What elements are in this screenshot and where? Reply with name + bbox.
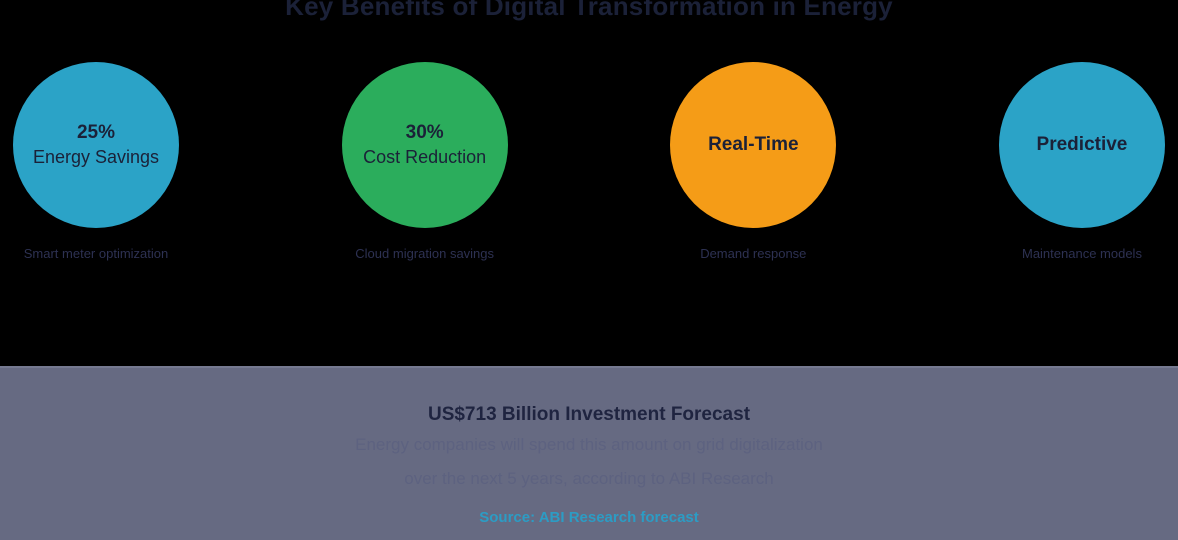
benefit-item: Real-Time Demand response: [606, 62, 900, 302]
benefit-item: 25% Energy Savings Smart meter optimizat…: [0, 62, 243, 302]
page-title: Key Benefits of Digital Transformation i…: [0, 0, 1178, 26]
infographic-canvas: Key Benefits of Digital Transformation i…: [0, 0, 1178, 540]
benefit-caption: Cloud migration savings: [355, 246, 494, 261]
benefit-value: Real-Time: [708, 133, 798, 157]
benefit-caption: Smart meter optimization: [24, 246, 169, 261]
benefit-caption: Demand response: [700, 246, 806, 261]
forecast-source: Source: ABI Research forecast: [0, 507, 1178, 529]
benefit-bubble-real-time[interactable]: Real-Time: [670, 62, 836, 228]
forecast-description-line-1: Energy companies will spend this amount …: [0, 428, 1178, 462]
benefit-label: Energy Savings: [33, 145, 159, 169]
benefit-item: Predictive Maintenance models: [935, 62, 1178, 302]
benefit-bubble-predictive[interactable]: Predictive: [999, 62, 1165, 228]
benefit-bubble-cost-reduction[interactable]: 30% Cost Reduction: [342, 62, 508, 228]
benefit-label: Cost Reduction: [363, 145, 486, 169]
benefit-value: Predictive: [1037, 133, 1128, 157]
benefit-item: 30% Cost Reduction Cloud migration savin…: [278, 62, 572, 302]
forecast-title: US$713 Billion Investment Forecast: [0, 402, 1178, 428]
forecast-description-line-2: over the next 5 years, according to ABI …: [0, 462, 1178, 496]
benefit-value: 30%: [406, 121, 444, 145]
benefit-bubble-energy-savings[interactable]: 25% Energy Savings: [13, 62, 179, 228]
benefits-row: 25% Energy Savings Smart meter optimizat…: [0, 62, 1178, 302]
benefit-caption: Maintenance models: [1022, 246, 1142, 261]
benefit-value: 25%: [77, 121, 115, 145]
forecast-band: US$713 Billion Investment Forecast Energ…: [0, 366, 1178, 540]
